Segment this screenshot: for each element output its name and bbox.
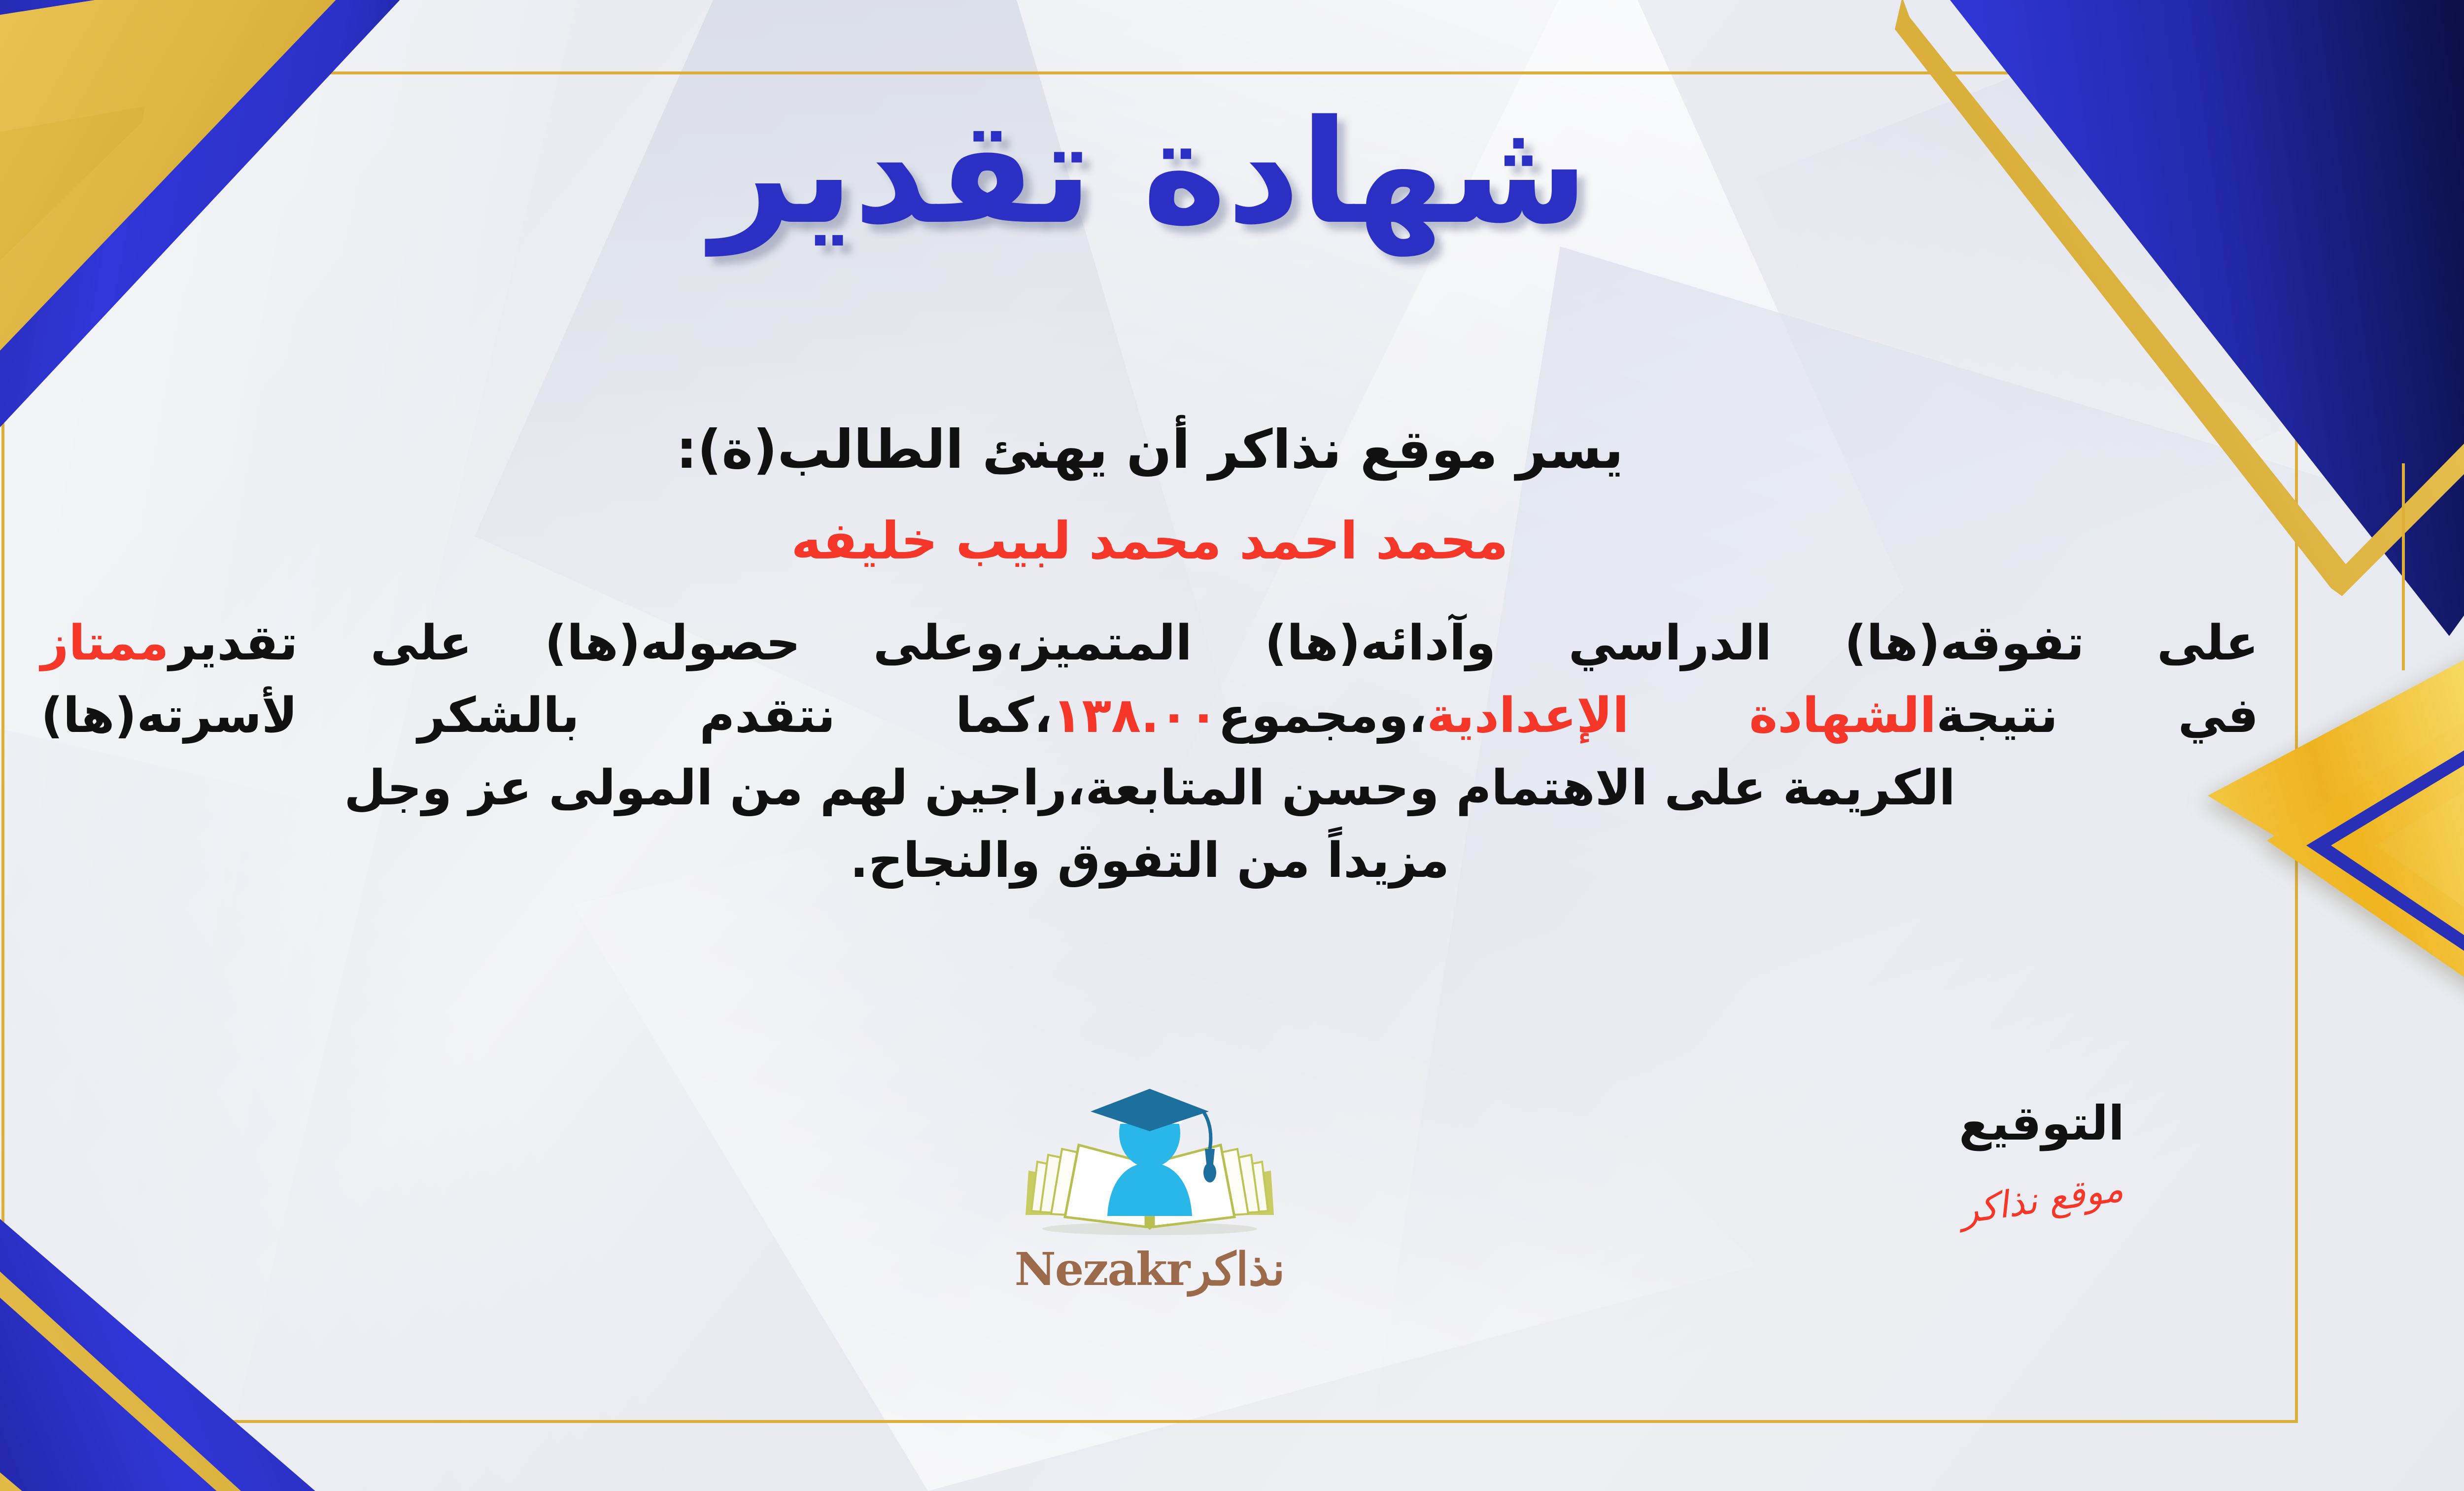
citation-line-2: في نتيجةالشهادة الإعدادية،ومجموع١٣٨.٠٠،ك… [41,680,2259,752]
citation-line-3: الكريمة على الاهتمام وحسن المتابعة،راجين… [41,752,2259,825]
certificate-title: شهادة تقدير [1,76,2298,270]
signature-block: التوقيع موقع نذاكر [1884,1098,2199,1221]
site-logo: نذاكرNezakr [962,1088,1337,1292]
certificate-page: شهادة تقدير يسر موقع نذاكر أن يهنئ الطال… [0,0,2464,1491]
citation-paragraph: على تفوقه(ها) الدراسي وآدائه(ها) المتميز… [21,607,2278,897]
intro-line: يسر موقع نذاكر أن يهنئ الطالب(ة): [21,416,2278,483]
certificate-body: يسر موقع نذاكر أن يهنئ الطالب(ة): محمد ا… [21,416,2278,897]
graduate-book-logo-icon [1012,1088,1288,1250]
exam-name: الشهادة الإعدادية [1427,688,1936,744]
citation-text: في نتيجة [1936,688,2259,744]
citation-line-4: مزيداً من التفوق والنجاح. [41,825,2259,897]
citation-text: ،ومجموع [1218,688,1427,744]
grade-value: ممتاز [41,615,169,671]
logo-wordmark: نذاكرNezakr [962,1247,1337,1292]
citation-text: على تفوقه(ها) الدراسي وآدائه(ها) المتميز… [169,615,2259,671]
certificate-content: شهادة تقدير يسر موقع نذاكر أن يهنئ الطال… [1,71,2298,1423]
citation-line-1: على تفوقه(ها) الدراسي وآدائه(ها) المتميز… [41,607,2259,680]
total-score: ١٣٨.٠٠ [1053,688,1218,744]
logo-name-ar: نذاكر [1189,1243,1285,1296]
signature-mark: موقع نذاكر [1958,1167,2126,1232]
student-name: محمد احمد محمد لبيب خليفه [21,509,2278,573]
logo-name-en: Nezakr [1015,1243,1190,1296]
certificate-footer: التوقيع موقع نذاكر [1,1088,2298,1403]
citation-text: ،كما نتقدم بالشكر لأسرته(ها) [41,688,1053,744]
signature-label: التوقيع [1884,1098,2199,1150]
